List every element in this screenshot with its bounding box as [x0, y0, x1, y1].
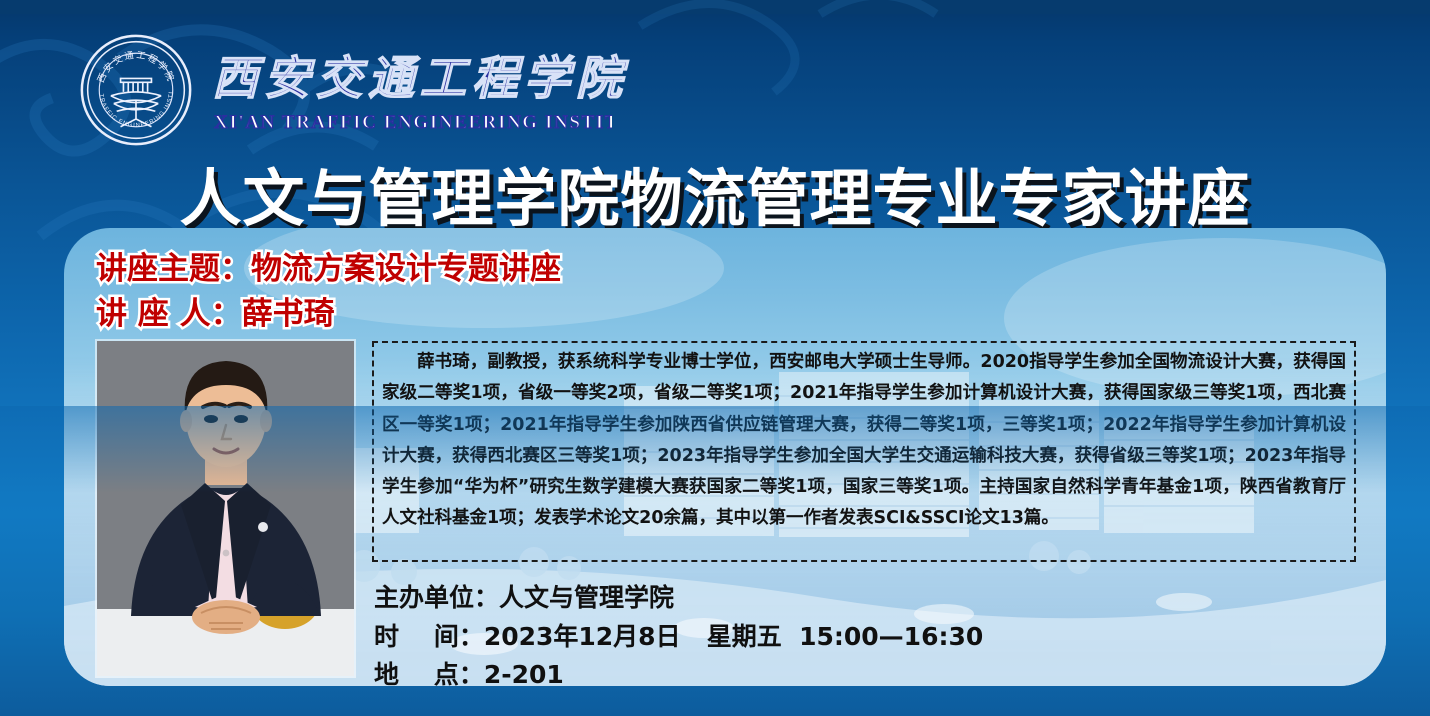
- university-name-en: XI'AN TRAFFIC ENGINEERING INSTITUTE: [212, 110, 612, 134]
- svg-text:XI'AN TRAFFIC ENGINEERING INST: XI'AN TRAFFIC ENGINEERING INSTITUTE: [78, 32, 175, 129]
- top-accent-strip: [0, 0, 1430, 14]
- brand-wordmark: 西安交通工程学院 XI'AN TRAFFIC ENGINEERING INSTI…: [212, 46, 642, 134]
- svg-text:西安交通工程学院: 西安交通工程学院: [96, 50, 178, 85]
- lecture-speaker-line: 讲 座 人：薛书琦: [96, 288, 335, 333]
- speaker-portrait: [97, 341, 354, 676]
- university-name-cn: 西安交通工程学院: [212, 46, 642, 108]
- location-line: 地 点：2-201: [374, 655, 564, 691]
- page-title: 人文与管理学院物流管理专业专家讲座: [0, 148, 1430, 238]
- lecture-poster: 西安交通工程学院 XI'AN TRAFFIC ENGINEERING INSTI…: [0, 0, 1430, 716]
- university-seal-icon: 西安交通工程学院 XI'AN TRAFFIC ENGINEERING INSTI…: [78, 32, 194, 148]
- speaker-bio: 薛书琦，副教授，获系统科学专业博士学位，西安邮电大学硕士生导师。2020指导学生…: [372, 341, 1356, 562]
- lecture-topic-line: 讲座主题：物流方案设计专题讲座: [96, 243, 561, 288]
- svg-text:XI'AN TRAFFIC ENGINEERING INST: XI'AN TRAFFIC ENGINEERING INSTITUTE: [214, 112, 612, 133]
- time-line: 时 间：2023年12月8日 星期五 15:00—16:30: [374, 617, 983, 653]
- brand-lockup: 西安交通工程学院 XI'AN TRAFFIC ENGINEERING INSTI…: [78, 32, 642, 148]
- organizer-line: 主办单位：人文与管理学院: [374, 578, 674, 614]
- svg-text:西安交通工程学院: 西安交通工程学院: [212, 51, 629, 105]
